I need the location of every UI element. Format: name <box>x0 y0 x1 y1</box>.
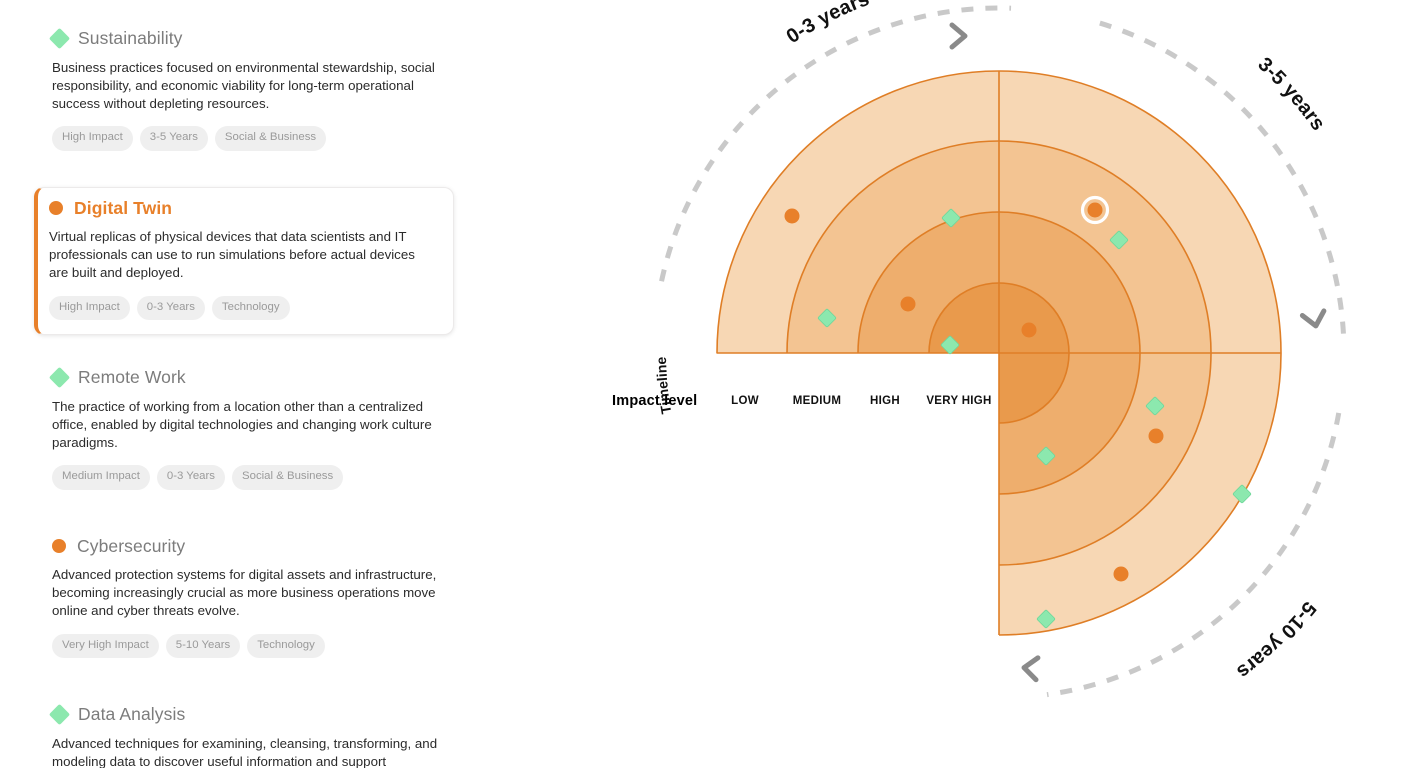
trend-card-data-analysis[interactable]: Data AnalysisAdvanced techniques for exa… <box>38 694 454 768</box>
impact-tick-low: LOW <box>731 395 759 407</box>
impact-axis-title: Impact level <box>612 393 697 409</box>
trend-card-header: Data Analysis <box>52 706 440 724</box>
trend-card-title: Cybersecurity <box>77 538 185 556</box>
tag-chip: Technology <box>212 296 290 320</box>
card-spacer <box>0 672 500 694</box>
impact-tick-high: HIGH <box>870 395 900 407</box>
label-band-mask <box>560 380 997 450</box>
tag-chip: Technology <box>247 634 325 658</box>
period-label-2: 5-10 years <box>1232 597 1320 683</box>
diamond-icon <box>49 28 70 49</box>
trend-card-header: Digital Twin <box>49 200 439 218</box>
radar-point-circle-p8[interactable] <box>1022 323 1037 338</box>
tag-chip: 0-3 Years <box>157 465 225 489</box>
radar-svg: 0-3 years3-5 years5-10 yearsTimeline Imp… <box>560 0 1412 768</box>
tag-chip: 5-10 Years <box>166 634 240 658</box>
tag-chip: High Impact <box>52 126 133 150</box>
impact-tick-medium: MEDIUM <box>793 395 841 407</box>
trend-card-tags: Very High Impact5-10 YearsTechnology <box>52 634 440 658</box>
tag-chip: Very High Impact <box>52 634 159 658</box>
radar-point-circle-p4[interactable] <box>901 297 916 312</box>
tag-chip: Social & Business <box>215 126 326 150</box>
trend-card-header: Sustainability <box>52 30 440 48</box>
circle-icon <box>49 201 63 215</box>
trend-card-sustainability[interactable]: SustainabilityBusiness practices focused… <box>38 18 454 165</box>
radar-point-circle-digital-twin[interactable] <box>1088 203 1103 218</box>
arrow-head-right-down <box>1302 311 1326 328</box>
trend-card-cybersecurity[interactable]: CybersecurityAdvanced protection systems… <box>38 526 454 673</box>
diamond-icon <box>49 704 70 725</box>
circle-icon <box>52 539 66 553</box>
trend-card-tags: Medium Impact0-3 YearsSocial & Business <box>52 465 440 489</box>
tag-chip: Medium Impact <box>52 465 150 489</box>
tag-chip: 0-3 Years <box>137 296 205 320</box>
period-label-0: 0-3 years <box>783 0 873 48</box>
tag-chip: High Impact <box>49 296 130 320</box>
trend-card-title: Sustainability <box>78 30 183 48</box>
trend-card-description: Advanced techniques for examining, clean… <box>52 735 440 768</box>
trend-card-title: Remote Work <box>78 369 186 387</box>
period-label-1: 3-5 years <box>1254 53 1330 135</box>
card-spacer <box>0 335 500 357</box>
trend-card-description: Advanced protection systems for digital … <box>52 566 440 621</box>
trend-card-remote-work[interactable]: Remote WorkThe practice of working from … <box>38 357 454 504</box>
trend-card-description: Business practices focused on environmen… <box>52 59 440 114</box>
radar-chart[interactable]: 0-3 years3-5 years5-10 yearsTimeline Imp… <box>560 0 1412 768</box>
trend-card-title: Digital Twin <box>74 200 172 218</box>
impact-axis-labels: Impact levelLOWMEDIUMHIGHVERY HIGH <box>612 393 992 409</box>
trend-card-digital-twin[interactable]: Digital TwinVirtual replicas of physical… <box>34 187 454 336</box>
radar-point-circle-p13[interactable] <box>1114 567 1129 582</box>
diamond-icon <box>49 367 70 388</box>
radar-point-circle-p1[interactable] <box>785 209 800 224</box>
trend-card-description: Virtual replicas of physical devices tha… <box>49 228 421 283</box>
tag-chip: Social & Business <box>232 465 343 489</box>
arrow-head-up-right <box>952 25 965 47</box>
arrow-head-left <box>1023 657 1038 680</box>
radar-point-circle-p10[interactable] <box>1149 429 1164 444</box>
impact-tick-very-high: VERY HIGH <box>926 395 991 407</box>
trend-card-title: Data Analysis <box>78 706 185 724</box>
trend-card-tags: High Impact3-5 YearsSocial & Business <box>52 126 440 150</box>
trend-list-sidebar[interactable]: SustainabilityBusiness practices focused… <box>0 0 500 768</box>
trend-card-description: The practice of working from a location … <box>52 398 440 453</box>
card-spacer <box>0 165 500 187</box>
tag-chip: 3-5 Years <box>140 126 208 150</box>
card-spacer <box>0 504 500 526</box>
trend-card-header: Cybersecurity <box>52 538 440 556</box>
technology-radar-page: SustainabilityBusiness practices focused… <box>0 0 1412 768</box>
trend-card-header: Remote Work <box>52 369 440 387</box>
trend-card-tags: High Impact0-3 YearsTechnology <box>49 296 439 320</box>
